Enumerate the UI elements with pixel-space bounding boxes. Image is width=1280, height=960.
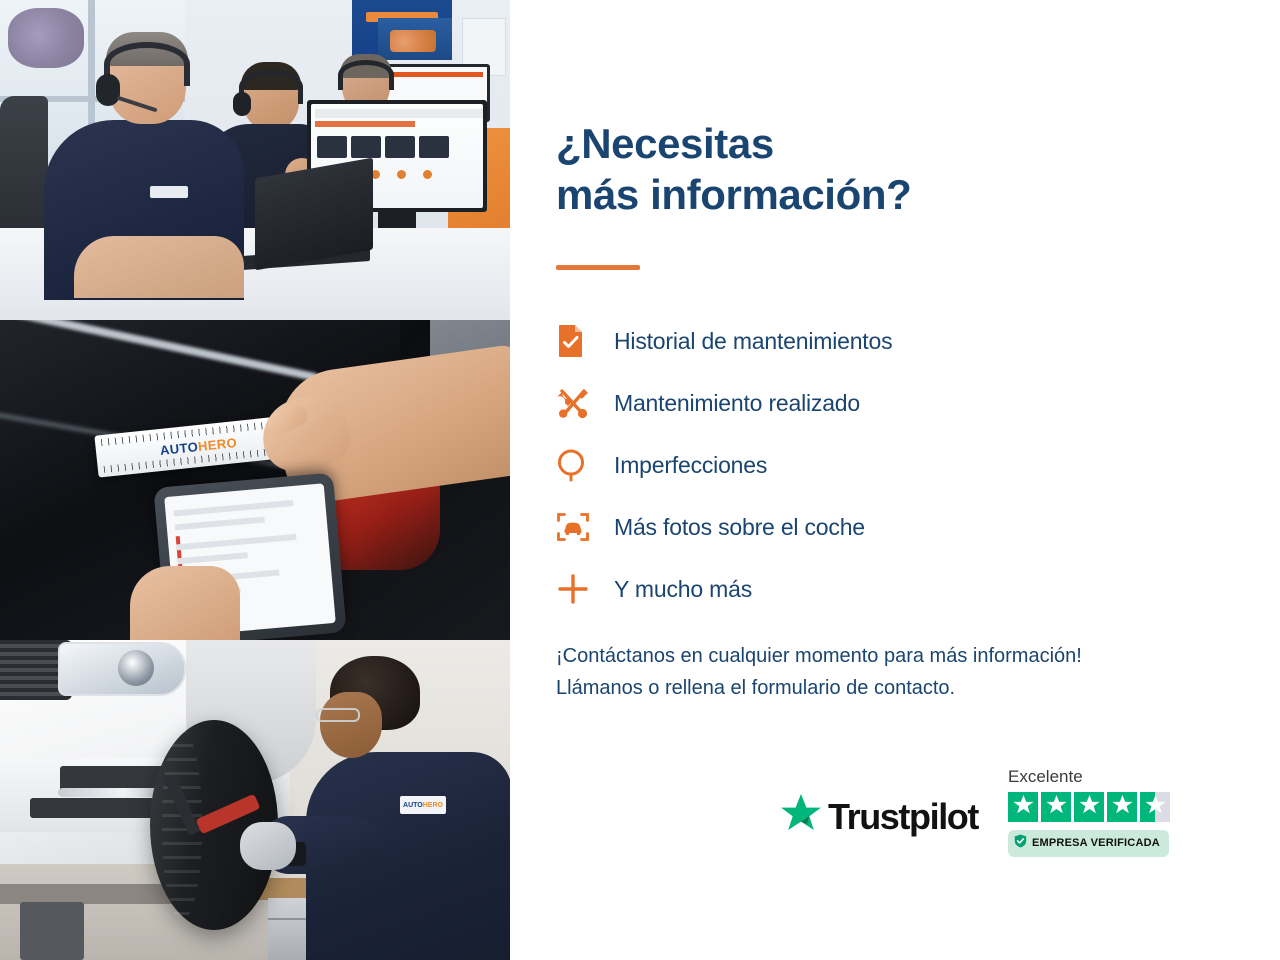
star-rating bbox=[1008, 792, 1190, 822]
uniform-logo-auto: AUTO bbox=[403, 802, 423, 809]
headline-line-1: ¿Necesitas bbox=[556, 120, 774, 167]
feature-item-more-photos: Más fotos sobre el coche bbox=[556, 496, 1156, 558]
feature-label: Y mucho más bbox=[614, 578, 752, 601]
wall-poster bbox=[378, 18, 452, 60]
content-panel: ¿Necesitas más información? Historial de… bbox=[510, 0, 1280, 960]
headline-line-2: más información? bbox=[556, 171, 911, 218]
mechanic: AUTOHERO bbox=[316, 656, 510, 960]
feature-item-much-more: Y mucho más bbox=[556, 558, 1156, 620]
car-inspection-ruler-photo: AUTOHERO bbox=[0, 320, 510, 640]
promo-page: AUTOHERO bbox=[0, 0, 1280, 960]
title-divider bbox=[556, 265, 640, 270]
ruler-brand-auto: AUTO bbox=[159, 439, 199, 458]
feature-label: Imperfecciones bbox=[614, 454, 767, 477]
verified-label: EMPRESA VERIFICADA bbox=[1032, 838, 1160, 849]
trustpilot-logo[interactable]: Trustpilot bbox=[780, 794, 978, 839]
star-2 bbox=[1041, 792, 1071, 822]
contact-paragraph: ¡Contáctanos en cualquier momento para m… bbox=[556, 640, 1236, 705]
page-title: ¿Necesitas más información? bbox=[556, 118, 986, 220]
paragraph-line-2: Llámanos o rellena el formulario de cont… bbox=[556, 677, 955, 699]
agent-foreground bbox=[38, 36, 243, 300]
car-lift-post bbox=[20, 902, 84, 960]
wrench-screwdriver-icon bbox=[556, 386, 614, 420]
trustpilot-star-icon bbox=[780, 794, 822, 839]
car-viewfinder-icon bbox=[556, 511, 614, 543]
plus-icon bbox=[556, 572, 614, 606]
star-5-partial bbox=[1140, 792, 1170, 822]
star-1 bbox=[1008, 792, 1038, 822]
star-4 bbox=[1107, 792, 1137, 822]
feature-item-maintenance-history: Historial de mantenimientos bbox=[556, 310, 1156, 372]
call-center-agents-photo bbox=[0, 0, 510, 320]
rating-label: Excelente bbox=[1008, 768, 1190, 785]
feature-item-maintenance-done: Mantenimiento realizado bbox=[556, 372, 1156, 434]
star-3 bbox=[1074, 792, 1104, 822]
mechanic-wheel-photo: AUTOHERO bbox=[0, 640, 510, 960]
paragraph-line-1: ¡Contáctanos en cualquier momento para m… bbox=[556, 645, 1082, 667]
uniform-logo-hero: HERO bbox=[423, 802, 443, 809]
verified-business-badge: EMPRESA VERIFICADA bbox=[1008, 830, 1169, 857]
feature-list: Historial de mantenimientos M bbox=[556, 310, 1156, 620]
shield-check-icon bbox=[1014, 834, 1027, 853]
ruler-brand-hero: HERO bbox=[197, 434, 238, 453]
trustpilot-rating: Excelente bbox=[1008, 768, 1190, 857]
feature-label: Más fotos sobre el coche bbox=[614, 516, 865, 539]
headlight-lens bbox=[118, 650, 154, 686]
feature-item-imperfections: Imperfecciones bbox=[556, 434, 1156, 496]
tablet-holding-hand bbox=[130, 566, 240, 640]
magnifier-icon bbox=[556, 448, 614, 482]
trustpilot-wordmark: Trustpilot bbox=[828, 799, 978, 835]
photo-column: AUTOHERO bbox=[0, 0, 510, 960]
trustpilot-widget[interactable]: Trustpilot Excelente bbox=[780, 768, 1200, 888]
feature-label: Mantenimiento realizado bbox=[614, 392, 860, 415]
feature-label: Historial de mantenimientos bbox=[614, 330, 892, 353]
uniform-logo: AUTOHERO bbox=[400, 796, 446, 814]
document-check-icon bbox=[556, 324, 614, 358]
